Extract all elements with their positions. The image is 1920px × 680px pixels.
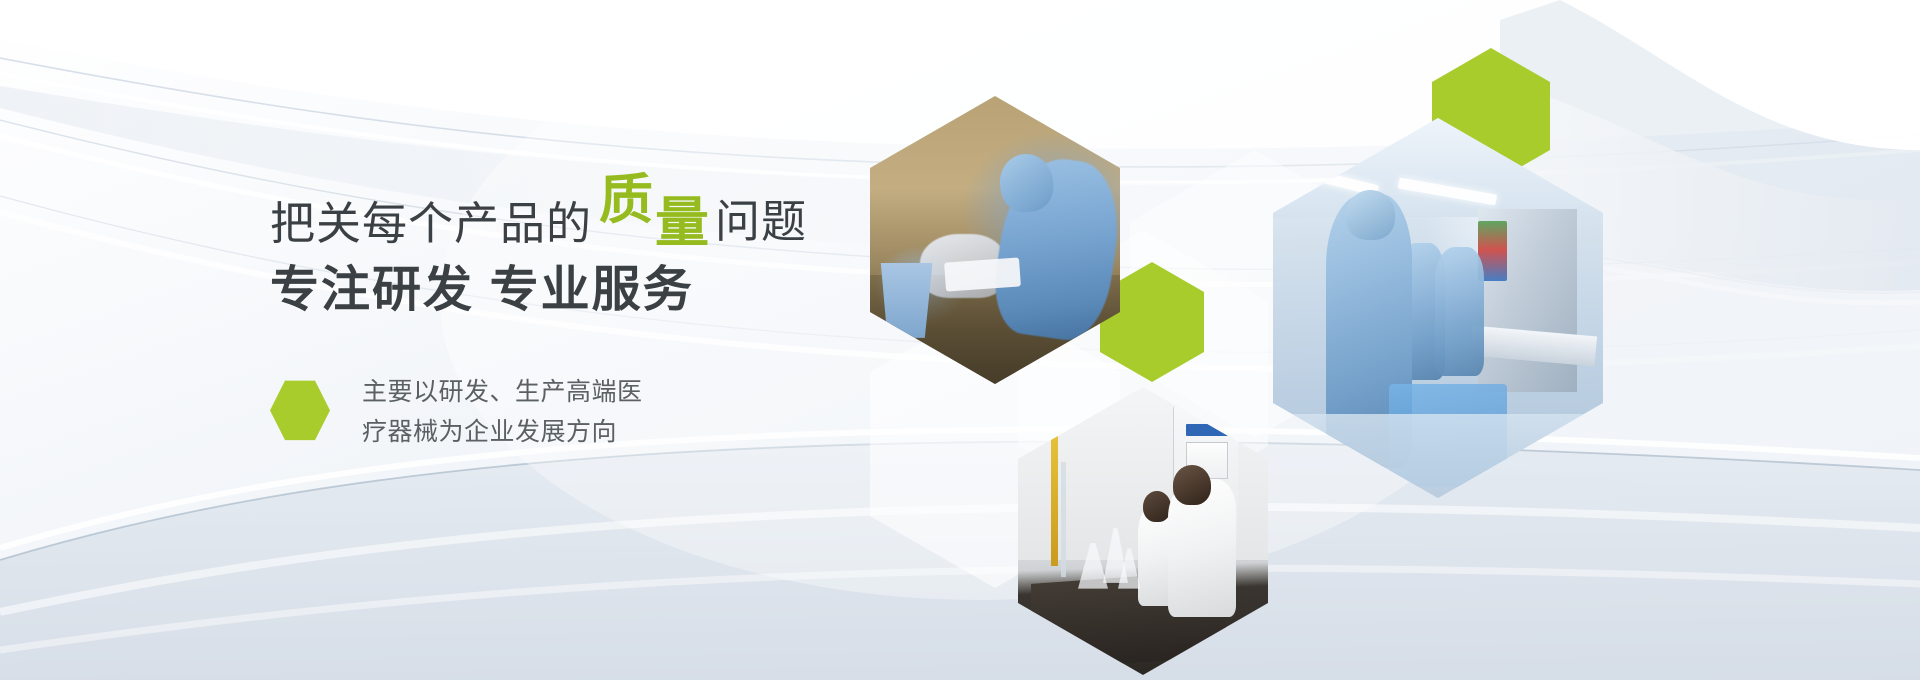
headline-tail-text: 问题 <box>715 199 807 244</box>
headline-accent-liang: 量 <box>655 196 709 250</box>
subtitle-line-1: 主要以研发、生产高端医 <box>362 373 643 413</box>
hexagon-bullet-icon <box>270 379 330 441</box>
headline-primary: 把关每个产品的 质 量 问题 <box>270 170 910 248</box>
headline-lead-text: 把关每个产品的 <box>270 201 592 246</box>
headline-secondary: 专注研发 专业服务 <box>270 262 910 318</box>
subtitle-row: 主要以研发、生产高端医 疗器械为企业发展方向 <box>270 373 910 452</box>
banner-copy-block: 把关每个产品的 质 量 问题 专注研发 专业服务 主要以研发、生产高端医 疗器械… <box>270 170 910 452</box>
headline-accent-zhi: 质 <box>599 173 653 227</box>
hero-banner: 把关每个产品的 质 量 问题 专注研发 专业服务 主要以研发、生产高端医 疗器械… <box>0 0 1920 680</box>
cleanroom-production-line-photo <box>1273 118 1603 498</box>
subtitle-text: 主要以研发、生产高端医 疗器械为企业发展方向 <box>362 373 643 452</box>
subtitle-line-2: 疗器械为企业发展方向 <box>362 413 643 453</box>
